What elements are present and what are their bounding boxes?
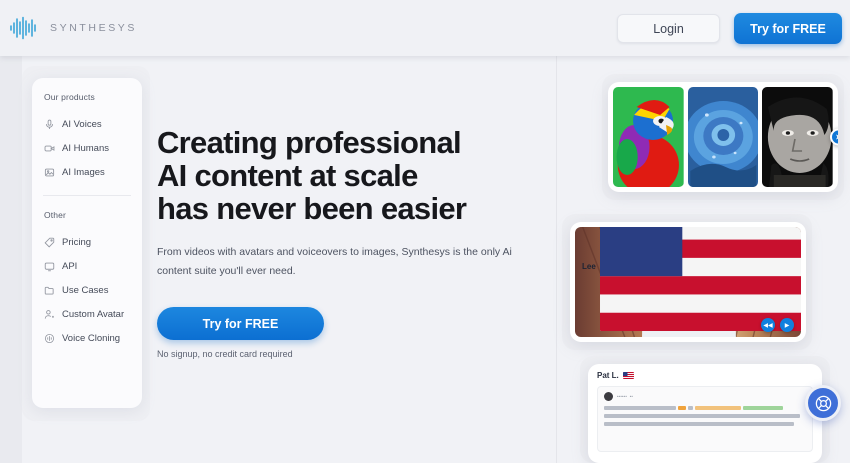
headline-line-2: AI content at scale [157,158,418,193]
sidebar: Our products AI Voices AI Humans AI Imag… [32,78,142,408]
lifebuoy-icon [814,394,833,413]
left-gutter [0,56,22,463]
microphone-icon [44,119,55,130]
login-button[interactable]: Login [617,14,720,43]
folder-icon [44,285,55,296]
user-add-icon [44,309,55,320]
us-flag-icon [600,227,801,331]
site-header: SYNTHESYS Login Try for FREE [0,0,850,56]
cta-note: No signup, no credit card required [157,349,537,359]
hero-try-for-free-button[interactable]: Try for FREE [157,307,324,340]
avatar-video[interactable]: Lee ◀◀ ▶ [575,227,801,337]
support-widget-button[interactable] [805,385,841,421]
monitor-icon [44,261,55,272]
page-title: Creating professional AI content at scal… [157,126,537,225]
sidebar-item-ai-images[interactable]: AI Images [32,160,142,184]
rewind-icon: ◀◀ [763,322,772,329]
sidebar-divider [43,195,131,196]
logo[interactable]: SYNTHESYS [8,16,137,40]
blue-rose-image [688,87,759,187]
sidebar-item-label: API [62,261,77,272]
sidebar-group-products-title: Our products [32,92,142,102]
text-editor-card[interactable]: Pat L. •••••• •• [588,364,822,463]
parrot-image [613,87,684,187]
avatar-name-tag: Lee [582,227,801,331]
play-button[interactable]: ▶ [780,318,794,332]
sidebar-item-label: AI Images [62,167,105,178]
sidebar-item-use-cases[interactable]: Use Cases [32,278,142,302]
play-icon: ▶ [785,322,790,329]
ai-human-card[interactable]: Lee ◀◀ ▶ [570,222,806,342]
landing-page: SYNTHESYS Login Try for FREE Our product… [0,0,850,463]
sidebar-item-ai-humans[interactable]: AI Humans [32,136,142,160]
hero-section: Creating professional AI content at scal… [157,126,537,359]
logo-text: SYNTHESYS [50,22,137,34]
us-flag-icon [623,372,634,379]
sidebar-item-label: Voice Cloning [62,333,120,344]
sidebar-item-api[interactable]: API [32,254,142,278]
waveform-icon [8,16,42,40]
ai-images-card[interactable]: ➤ [608,82,838,192]
editor-document[interactable]: •••••• •• [597,386,813,452]
sidebar-group-other-title: Other [32,210,142,220]
editor-author-name: Pat L. [597,371,619,380]
sidebar-item-pricing[interactable]: Pricing [32,230,142,254]
header-try-for-free-button[interactable]: Try for FREE [734,13,842,44]
editor-text-line [604,422,806,426]
sidebar-item-label: AI Humans [62,143,109,154]
sidebar-item-custom-avatar[interactable]: Custom Avatar [32,302,142,326]
sidebar-item-label: Use Cases [62,285,108,296]
image-tiles [613,87,833,187]
sidebar-item-ai-voices[interactable]: AI Voices [32,112,142,136]
hero-subtext: From videos with avatars and voiceovers … [157,243,525,281]
price-tag-icon [44,237,55,248]
editor-doc-meta: •••••• •• [617,394,633,399]
sidebar-item-label: Pricing [62,237,91,248]
editor-author-row: Pat L. [597,371,813,380]
avatar [604,392,613,401]
avatar-name: Lee [582,262,596,271]
rewind-button[interactable]: ◀◀ [761,318,775,332]
editor-text-line [604,406,806,410]
chevron-right-icon: ➤ [835,133,838,142]
headline-line-3: has never been easier [157,191,466,226]
sidebar-item-label: Custom Avatar [62,309,124,320]
image-icon [44,167,55,178]
sidebar-item-voice-cloning[interactable]: Voice Cloning [32,326,142,350]
portrait-image [762,87,833,187]
video-camera-icon [44,143,55,154]
sound-wave-icon [44,333,55,344]
headline-line-1: Creating professional [157,125,461,160]
sidebar-item-label: AI Voices [62,119,102,130]
editor-text-line [604,414,806,418]
video-controls: ◀◀ ▶ [761,318,794,332]
editor-doc-header: •••••• •• [604,392,806,401]
